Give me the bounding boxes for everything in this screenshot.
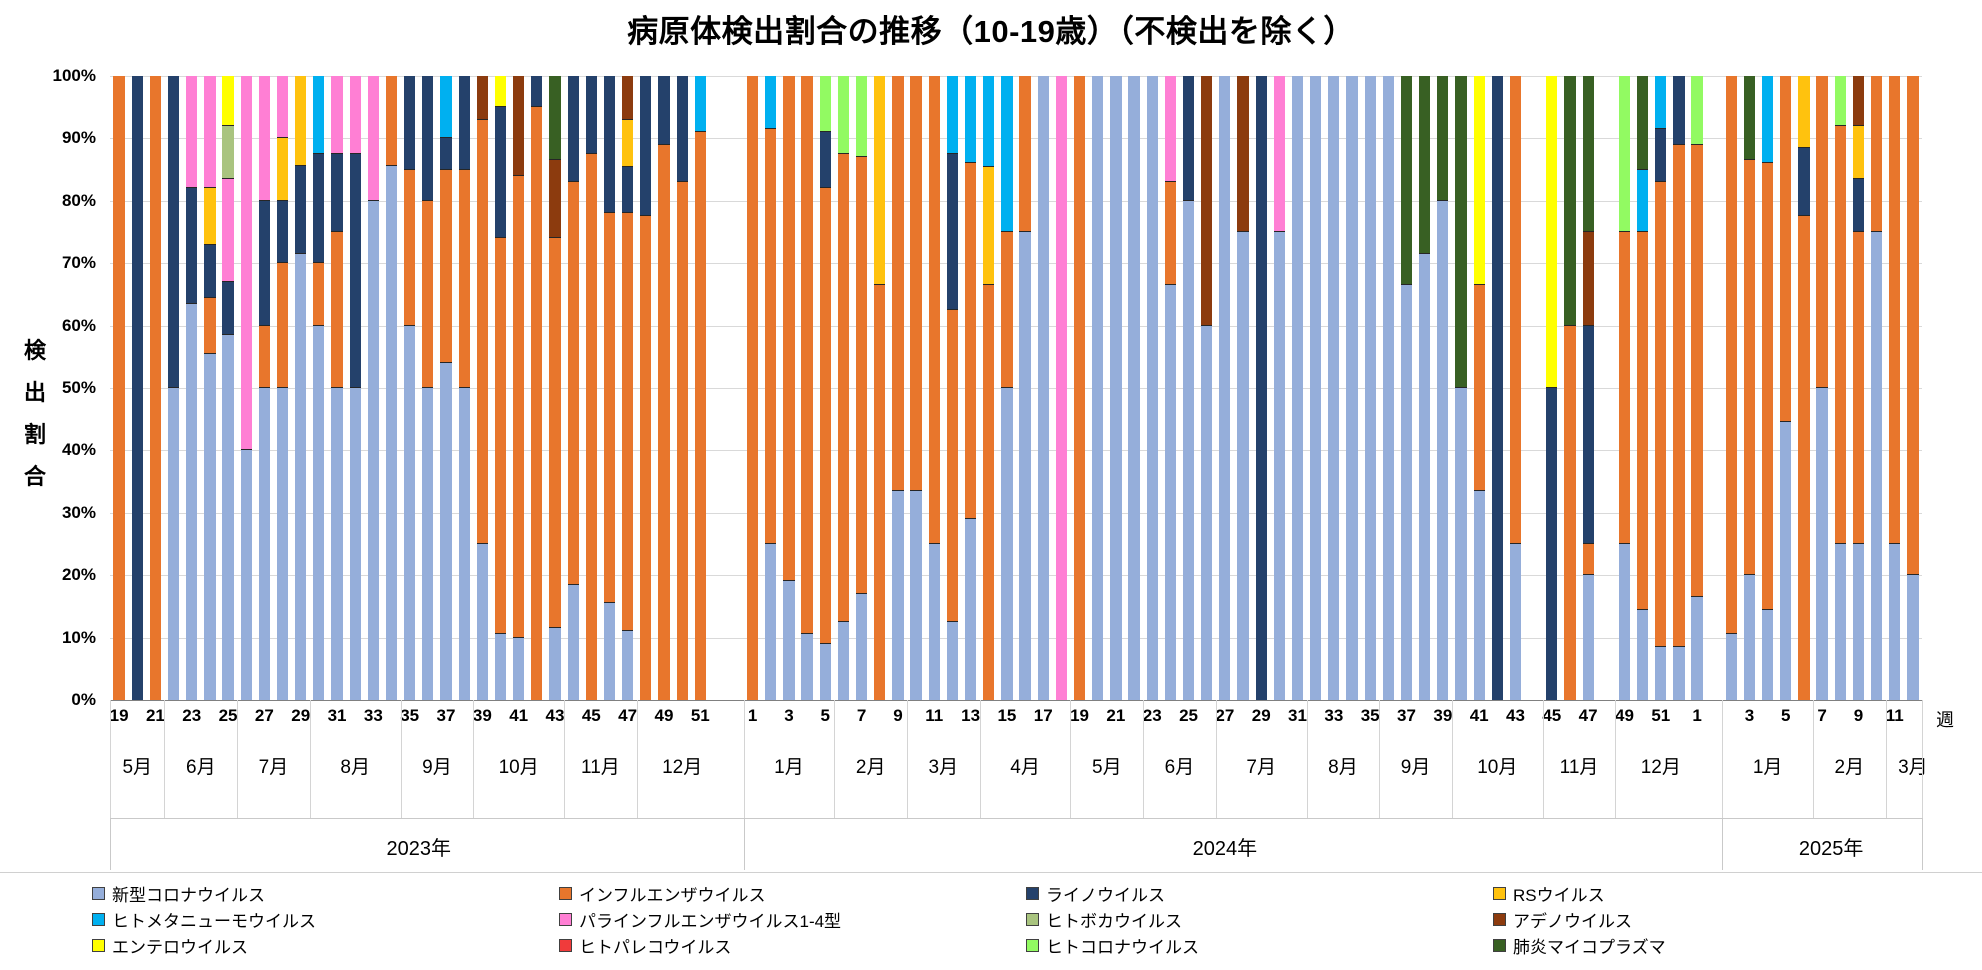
bar-segment (1147, 76, 1158, 700)
legend-swatch-icon (92, 913, 105, 926)
bar-segment (695, 76, 706, 132)
x-tick-label-week-9: 9 (1854, 706, 1863, 726)
bar-column (1328, 76, 1339, 700)
legend-swatch-icon (559, 939, 572, 952)
x-tick-label-week-35: 35 (1361, 706, 1380, 726)
bar-column (801, 76, 812, 700)
bar-column (1183, 76, 1194, 700)
x-axis-month-label: 5月 (1092, 752, 1122, 779)
x-tick-label-week-37: 37 (437, 706, 456, 726)
y-tick-label-50: 50% (62, 378, 96, 398)
x-tick-label-week-47: 47 (618, 706, 637, 726)
bar-segment (1853, 232, 1864, 544)
bar-segment (277, 76, 288, 138)
x-axis: 1921232527293133353739414345474951135791… (110, 700, 1922, 820)
legend-item[interactable]: 肺炎マイコプラズマ (1493, 933, 1960, 958)
bar-segment (1274, 232, 1285, 700)
bar-segment (295, 76, 306, 166)
year-separator (110, 818, 111, 870)
legend-label: ヒトコロナウイルス (1046, 933, 1199, 958)
bar-column (1835, 76, 1846, 700)
bar-segment (677, 76, 688, 182)
bar-segment (1655, 647, 1666, 700)
bar-segment (1564, 76, 1575, 326)
bar-segment (658, 145, 669, 700)
bar-segment (1583, 232, 1594, 326)
bar-segment (422, 388, 433, 700)
bar-column (1001, 76, 1012, 700)
x-tick-label-week-49: 49 (655, 706, 674, 726)
legend-swatch-icon (1493, 887, 1506, 900)
bar-segment (983, 76, 994, 166)
bar-segment (1889, 76, 1900, 544)
bar-segment (440, 170, 451, 363)
x-axis-month-label: 10月 (1477, 752, 1517, 779)
bar-column (259, 76, 270, 700)
legend-swatch-icon (559, 887, 572, 900)
bar-segment (168, 76, 179, 388)
bar-segment (1019, 232, 1030, 700)
x-tick-label-week-35: 35 (400, 706, 419, 726)
bar-segment (1546, 76, 1557, 388)
bar-segment (1583, 544, 1594, 575)
bar-segment (1474, 285, 1485, 491)
bar-segment (331, 232, 342, 388)
bar-segment (549, 238, 560, 628)
x-tick-label-week-5: 5 (821, 706, 830, 726)
bar-segment (1183, 201, 1194, 700)
week-group-separator (1886, 700, 1887, 818)
year-separator (1922, 818, 1923, 870)
x-axis-month-label: 11月 (1560, 752, 1599, 779)
bar-segment (204, 76, 215, 188)
bar-column (1871, 76, 1882, 700)
bar-segment (1853, 76, 1864, 126)
x-tick-label-week-1: 1 (1692, 706, 1701, 726)
x-axis-month-label: 7月 (259, 752, 289, 779)
bar-segment (874, 76, 885, 285)
bar-column (586, 76, 597, 700)
bar-segment (892, 491, 903, 700)
x-tick-label-week-15: 15 (997, 706, 1016, 726)
bar-column (295, 76, 306, 700)
y-tick-label-70: 70% (62, 253, 96, 273)
bar-segment (1619, 232, 1630, 544)
bar-segment (1691, 145, 1702, 597)
week-group-separator (110, 700, 111, 818)
bar-segment (1780, 76, 1791, 422)
y-tick-label-60: 60% (62, 316, 96, 336)
bar-segment (929, 76, 940, 544)
bar-segment (1655, 76, 1666, 129)
bar-column (820, 76, 831, 700)
bar-segment (1762, 610, 1773, 700)
bar-segment (368, 201, 379, 700)
bar-segment (983, 285, 994, 700)
bar-column (874, 76, 885, 700)
legend-swatch-icon (1026, 887, 1039, 900)
bar-segment (495, 76, 506, 107)
x-axis-month-label: 8月 (340, 752, 370, 779)
bar-column (1510, 76, 1521, 700)
bar-segment (1691, 597, 1702, 700)
bar-segment (1871, 232, 1882, 700)
week-group-separator (1070, 700, 1071, 818)
bar-segment (1328, 76, 1339, 700)
bar-segment (331, 154, 342, 232)
bar-segment (495, 107, 506, 238)
bar-segment (568, 76, 579, 182)
bar-segment (1583, 326, 1594, 544)
bar-segment (1853, 126, 1864, 179)
legend-item[interactable]: 新型コロナウイルス (92, 881, 559, 906)
bar-segment (1655, 129, 1666, 182)
x-tick-label-week-37: 37 (1397, 706, 1416, 726)
bar-segment (622, 631, 633, 700)
x-tick-label-week-11: 11 (925, 706, 943, 726)
bar-segment (1237, 76, 1248, 232)
bar-segment (132, 76, 143, 700)
x-tick-label-week-43: 43 (1506, 706, 1525, 726)
x-tick-label-week-9: 9 (893, 706, 902, 726)
bar-column (1147, 76, 1158, 700)
x-tick-label-week-7: 7 (857, 706, 866, 726)
bar-segment (1128, 76, 1139, 700)
bar-segment (801, 634, 812, 700)
legend: 新型コロナウイルスインフルエンザウイルスライノウイルスRSウイルスヒトメタニュー… (92, 880, 1962, 966)
bar-segment (1907, 575, 1918, 700)
chart-title: 病原体検出割合の推移（10-19歳）（不検出を除く） (0, 6, 1982, 51)
bar-segment (350, 76, 361, 154)
x-axis-month-label: 3月 (929, 752, 959, 779)
bar-segment (1564, 326, 1575, 700)
bar-segment (222, 179, 233, 282)
bar-segment (1816, 388, 1827, 700)
bar-segment (386, 76, 397, 166)
x-tick-label-week-21: 21 (146, 706, 165, 726)
bar-column (622, 76, 633, 700)
x-axis-year-label: 2023年 (387, 832, 452, 861)
x-axis-year-label: 2025年 (1799, 832, 1864, 861)
bar-column (422, 76, 433, 700)
bar-column (1038, 76, 1049, 700)
bar-segment (1744, 160, 1755, 575)
bar-column (1673, 76, 1684, 700)
legend-swatch-icon (1493, 939, 1506, 952)
bar-segment (241, 450, 252, 700)
week-group-separator (1216, 700, 1217, 818)
legend-item[interactable]: ライノウイルス (1026, 881, 1493, 906)
bar-column (1365, 76, 1376, 700)
bar-segment (295, 254, 306, 700)
bar-segment (440, 363, 451, 700)
bar-column (313, 76, 324, 700)
legend-item[interactable]: ヒトボカウイルス (1026, 907, 1493, 932)
bar-segment (1510, 544, 1521, 700)
plot-area (110, 76, 1922, 700)
year-separator (1722, 818, 1723, 870)
week-group-separator (1143, 700, 1144, 818)
bar-segment (1637, 232, 1648, 610)
legend-swatch-icon (559, 913, 572, 926)
bar-column (1165, 76, 1176, 700)
week-group-separator (1922, 700, 1923, 818)
bar-column (838, 76, 849, 700)
x-tick-label-week-23: 23 (182, 706, 201, 726)
bar-segment (513, 638, 524, 700)
bar-column (1907, 76, 1918, 700)
week-group-separator (401, 700, 402, 818)
bar-segment (222, 335, 233, 700)
week-group-separator (564, 700, 565, 818)
bar-segment (313, 326, 324, 700)
bar-segment (331, 388, 342, 700)
stacked-bars (110, 76, 1922, 700)
bar-segment (1001, 232, 1012, 388)
bar-segment (1798, 76, 1809, 148)
bar-segment (983, 167, 994, 286)
x-tick-label-week-25: 25 (219, 706, 238, 726)
bar-column (368, 76, 379, 700)
y-tick-label-30: 30% (62, 503, 96, 523)
week-group-separator (473, 700, 474, 818)
bar-column (1889, 76, 1900, 700)
bar-column (1019, 76, 1030, 700)
legend-item[interactable]: ヒトパレコウイルス (559, 933, 1026, 958)
week-group-separator (164, 700, 165, 818)
x-tick-label-week-51: 51 (691, 706, 710, 726)
x-tick-label-week-27: 27 (255, 706, 274, 726)
bar-segment (1510, 76, 1521, 544)
bar-segment (313, 154, 324, 263)
bar-column (677, 76, 688, 700)
bar-segment (586, 76, 597, 154)
bar-segment (477, 544, 488, 700)
week-group-separator (907, 700, 908, 818)
bar-segment (586, 154, 597, 700)
bar-column (929, 76, 940, 700)
bar-column (531, 76, 542, 700)
bar-segment (1798, 216, 1809, 700)
legend-label: アデノウイルス (1513, 907, 1632, 932)
bar-segment (965, 163, 976, 519)
x-axis-month-label: 2月 (856, 752, 886, 779)
bar-column (1474, 76, 1485, 700)
x-tick-label-week-17: 17 (1034, 706, 1053, 726)
bar-segment (549, 628, 560, 700)
bar-segment (549, 160, 560, 238)
bar-segment (677, 182, 688, 700)
x-axis-month-label: 1月 (1753, 752, 1783, 779)
bar-column (1546, 76, 1557, 700)
bar-segment (1655, 182, 1666, 647)
y-tick-label-10: 10% (62, 628, 96, 648)
bar-column (168, 76, 179, 700)
bar-segment (1183, 76, 1194, 201)
bar-segment (765, 129, 776, 544)
x-axis-month-label: 1月 (774, 752, 804, 779)
bar-segment (1798, 148, 1809, 217)
bar-segment (1673, 145, 1684, 647)
bar-segment (947, 154, 958, 310)
bar-segment (622, 120, 633, 167)
x-axis-month-label: 12月 (662, 752, 702, 779)
x-tick-label-week-41: 41 (509, 706, 528, 726)
bar-segment (965, 519, 976, 700)
legend-swatch-icon (1026, 913, 1039, 926)
x-tick-label-week-31: 31 (1288, 706, 1307, 726)
bar-segment (513, 76, 524, 176)
bar-segment (259, 201, 270, 326)
bar-segment (1274, 76, 1285, 232)
x-tick-label-week-3: 3 (784, 706, 793, 726)
bar-column (1274, 76, 1285, 700)
bar-segment (222, 126, 233, 179)
x-tick-label-week-27: 27 (1215, 706, 1234, 726)
week-group-separator (1615, 700, 1616, 818)
x-tick-label-week-29: 29 (291, 706, 310, 726)
x-tick-label-week-45: 45 (582, 706, 601, 726)
bar-segment (1871, 76, 1882, 232)
bar-segment (1165, 285, 1176, 700)
bar-segment (440, 76, 451, 138)
bar-segment (295, 166, 306, 253)
legend-swatch-icon (1026, 939, 1039, 952)
week-group-separator (637, 700, 638, 818)
bar-segment (277, 263, 288, 388)
bar-segment (747, 76, 758, 700)
bar-segment (1165, 182, 1176, 285)
x-axis-month-label: 12月 (1641, 752, 1681, 779)
x-axis-month-label: 7月 (1246, 752, 1276, 779)
bar-column (404, 76, 415, 700)
bar-segment (350, 388, 361, 700)
bar-segment (640, 216, 651, 700)
bar-segment (1437, 76, 1448, 201)
bar-segment (1726, 634, 1737, 700)
legend-item[interactable]: パラインフルエンザウイルス1-4型 (559, 907, 1026, 932)
bar-segment (604, 213, 615, 603)
bar-segment (929, 544, 940, 700)
bar-segment (801, 76, 812, 634)
x-tick-label-week-29: 29 (1252, 706, 1271, 726)
bar-segment (277, 138, 288, 200)
bar-segment (1744, 76, 1755, 160)
bar-segment (947, 622, 958, 700)
bar-segment (1092, 76, 1103, 700)
x-tick-label-week-19: 19 (1070, 706, 1089, 726)
legend-label: ヒトボカウイルス (1046, 907, 1182, 932)
legend-swatch-icon (1493, 913, 1506, 926)
legend-item[interactable]: ヒトメタニューモウイルス (92, 907, 559, 932)
bar-segment (820, 188, 831, 644)
x-tick-label-week-39: 39 (1433, 706, 1452, 726)
x-axis-year-label: 2024年 (1193, 832, 1258, 861)
legend-item[interactable]: インフルエンザウイルス (559, 881, 1026, 906)
bar-segment (1201, 76, 1212, 326)
week-group-separator (1543, 700, 1544, 818)
y-tick-label-100: 100% (53, 66, 96, 86)
bar-segment (1401, 76, 1412, 285)
week-group-separator (744, 700, 745, 818)
legend-item[interactable]: エンテロウイルス (92, 933, 559, 958)
legend-item[interactable]: RSウイルス (1493, 881, 1960, 906)
bar-segment (947, 310, 958, 622)
bar-column (1201, 76, 1212, 700)
x-axis-month-label: 6月 (186, 752, 216, 779)
bar-segment (1673, 76, 1684, 145)
bar-column (495, 76, 506, 700)
bar-column (386, 76, 397, 700)
bar-segment (1455, 76, 1466, 388)
legend-swatch-icon (92, 939, 105, 952)
bar-segment (513, 176, 524, 638)
bar-segment (1110, 76, 1121, 700)
bar-segment (386, 166, 397, 700)
bar-segment (874, 285, 885, 700)
bar-column (765, 76, 776, 700)
x-tick-label-week-33: 33 (364, 706, 383, 726)
bar-column (1853, 76, 1864, 700)
bar-column (783, 76, 794, 700)
x-tick-label-week-49: 49 (1615, 706, 1634, 726)
x-tick-label-week-25: 25 (1179, 706, 1198, 726)
bar-column (568, 76, 579, 700)
bar-segment (820, 132, 831, 188)
bar-segment (1019, 76, 1030, 232)
bar-segment (1038, 76, 1049, 700)
bar-column (747, 76, 758, 700)
bar-segment (222, 76, 233, 126)
legend-item[interactable]: アデノウイルス (1493, 907, 1960, 932)
bar-segment (477, 120, 488, 544)
week-group-separator (834, 700, 835, 818)
bar-column (856, 76, 867, 700)
x-tick-label-week-13: 13 (961, 706, 980, 726)
bar-segment (404, 170, 415, 326)
legend-label: インフルエンザウイルス (579, 881, 766, 906)
x-axis-month-label: 11月 (581, 752, 620, 779)
bar-column (1346, 76, 1357, 700)
bar-segment (1835, 126, 1846, 544)
bar-segment (856, 157, 867, 594)
legend-label: ライノウイルス (1046, 881, 1165, 906)
week-group-separator (237, 700, 238, 818)
bar-segment (1474, 76, 1485, 285)
x-axis-month-label: 6月 (1165, 752, 1195, 779)
bar-column (459, 76, 470, 700)
legend-item[interactable]: ヒトコロナウイルス (1026, 933, 1493, 958)
bar-column (1383, 76, 1394, 700)
bar-segment (1907, 76, 1918, 575)
bar-segment (241, 76, 252, 450)
bar-column (1455, 76, 1466, 700)
week-group-separator (1379, 700, 1380, 818)
bar-segment (604, 76, 615, 213)
legend-label: 新型コロナウイルス (112, 881, 265, 906)
bar-segment (765, 544, 776, 700)
bar-column (1056, 76, 1067, 700)
bar-column (350, 76, 361, 700)
bar-column (604, 76, 615, 700)
bar-segment (277, 201, 288, 263)
bar-column (640, 76, 651, 700)
bar-segment (549, 76, 560, 160)
bar-segment (1762, 76, 1773, 163)
legend-label: ヒトパレコウイルス (579, 933, 731, 958)
bar-column (965, 76, 976, 700)
bar-segment (531, 76, 542, 107)
